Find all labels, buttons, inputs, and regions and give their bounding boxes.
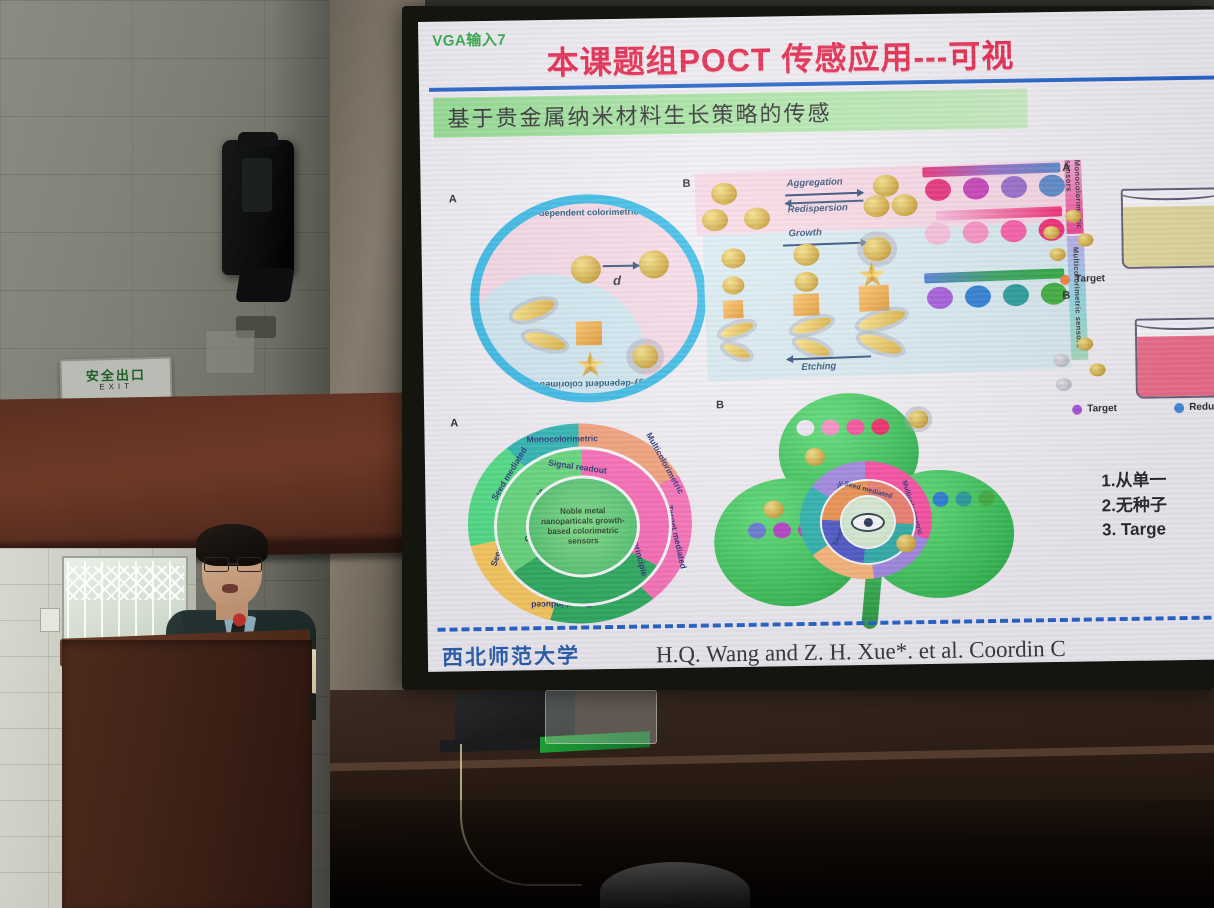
speaker-mount xyxy=(235,268,294,302)
university-logo-cn: 西北师范大学 xyxy=(442,639,642,672)
wall-switch xyxy=(40,608,60,632)
loudspeaker-icon xyxy=(222,140,294,275)
slide-subtitle-bar: 基于贵金属纳米材料生长策略的传感 xyxy=(433,88,1028,137)
wheel-center-text: Noble metal nanoparticals growth-based c… xyxy=(529,506,638,548)
glasses-icon xyxy=(204,557,262,570)
legend-target-a: Target xyxy=(1060,273,1105,285)
legend-reductant-b: Redu xyxy=(1174,402,1214,414)
podium: 1959 xyxy=(62,640,312,908)
label-etching: Etching xyxy=(801,361,836,373)
exit-sign-english: EXIT xyxy=(99,383,133,392)
legend-target-b-label: Target xyxy=(1087,403,1117,414)
beaker-yellow xyxy=(1121,187,1214,269)
wheel-outer-monocolorimetric: Monocolorimetric xyxy=(526,433,597,444)
panel-label-b-top: B xyxy=(682,178,690,190)
label-redispersion: Redispersion xyxy=(787,202,848,215)
wall-plate xyxy=(205,330,255,374)
clover-diagram: Monocolorimetric Multicolorimetric Seed … xyxy=(712,391,1016,636)
sensor-wheel-diagram: Monocolorimetric Multicolorimetric Targe… xyxy=(466,422,693,625)
slide-title: 本课题组POCT 传感应用---可视 xyxy=(546,31,1014,84)
legend-target-a-label: Target xyxy=(1075,273,1105,284)
university-logo: 西北师范大学 NOF NORTHWEST NORMAL UNIVERSITY xyxy=(442,639,643,672)
slide-subtitle: 基于贵金属纳米材料生长策略的传感 xyxy=(447,96,831,134)
distance-label: d xyxy=(613,273,621,288)
eye-icon xyxy=(851,512,885,532)
bullet-list: 1.从单一 2.无种子 3. Targe xyxy=(1101,468,1167,543)
legend-target-b: Target xyxy=(1072,403,1117,415)
panel-label-a-bottom: A xyxy=(450,417,458,429)
panel-label-a-top: A xyxy=(449,193,457,205)
panel-label-a-right: A xyxy=(1062,162,1070,174)
label-growth: Growth xyxy=(788,227,822,239)
arc-label-morphology: Morphology-dependent colorimetric sensor… xyxy=(481,378,699,391)
vga-input-label: VGA输入7 xyxy=(432,29,506,51)
arc-label-distance: Distance-dependent colorimetric sensors xyxy=(478,206,696,219)
legend-reductant-b-label: Redu xyxy=(1189,402,1214,413)
beaker-pink xyxy=(1135,317,1214,399)
bullet-3: 3. Targe xyxy=(1102,518,1168,544)
exit-sign-chinese: 安全出口 xyxy=(86,368,146,383)
lecture-hall-photo: 安全出口 EXIT 1959 xyxy=(0,0,1214,908)
projection-screen: VGA输入7 本课题组POCT 传感应用---可视 基于贵金属纳米材料生长策略的… xyxy=(418,9,1214,671)
panel-label-b-right: B xyxy=(1062,290,1070,302)
panel-a-diagram: Distance-dependent colorimetric sensors … xyxy=(469,193,708,405)
label-aggregation: Aggregation xyxy=(787,176,843,189)
bullet-1: 1.从单一 xyxy=(1101,468,1167,494)
wheel-inner-signal-readout: Signal readout xyxy=(548,457,608,475)
glass-panel xyxy=(545,690,657,744)
bullet-2: 2.无种子 xyxy=(1101,493,1167,519)
foreground-shadow xyxy=(330,800,1214,908)
panel-b-diagram: Aggregation Redispersion Growth xyxy=(694,159,1091,381)
